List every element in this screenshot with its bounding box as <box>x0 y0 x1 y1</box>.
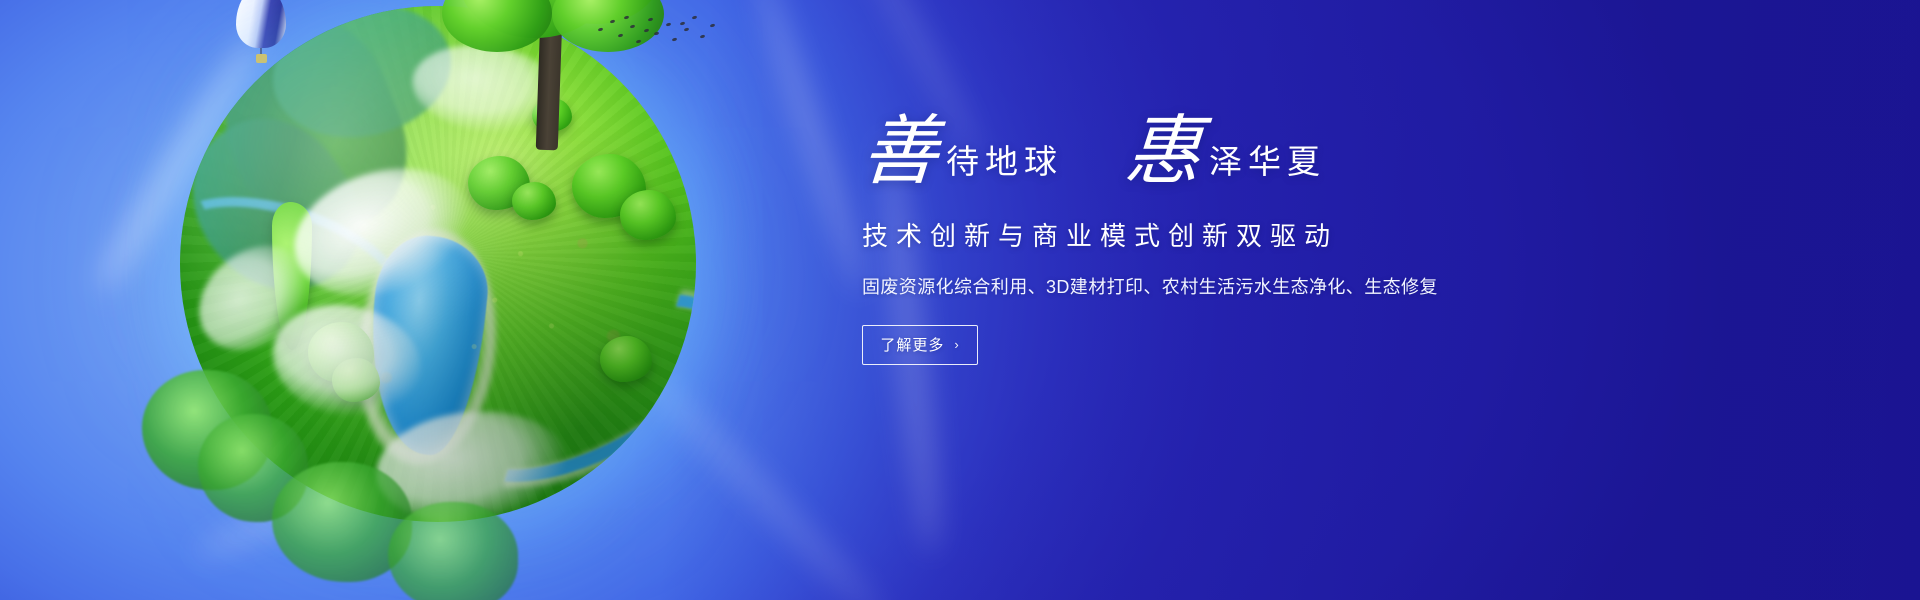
headline-group-2: 惠 泽华夏 <box>1125 118 1326 188</box>
page-title: 善 待地球 惠 泽华夏 <box>862 118 1622 188</box>
headline-small-text-1: 待地球 <box>938 147 1063 188</box>
chevron-right-icon: › <box>954 337 959 352</box>
learn-more-button[interactable]: 了解更多 › <box>862 325 978 365</box>
hero-banner: 善 待地球 惠 泽华夏 技术创新与商业模式创新双驱动 固废资源化综合利用、3D建… <box>0 0 1920 600</box>
hero-content: 善 待地球 惠 泽华夏 技术创新与商业模式创新双驱动 固废资源化综合利用、3D建… <box>862 118 1622 365</box>
hero-description: 固废资源化综合利用、3D建材打印、农村生活污水生态净化、生态修复 <box>862 273 1622 299</box>
headline-small-text-2: 泽华夏 <box>1201 147 1326 188</box>
hero-subtitle: 技术创新与商业模式创新双驱动 <box>862 216 1622 253</box>
headline-big-char-2: 惠 <box>1123 118 1204 188</box>
headline-big-char-1: 善 <box>860 118 941 188</box>
headline-group-1: 善 待地球 <box>862 118 1063 188</box>
learn-more-label: 了解更多 <box>880 334 944 355</box>
